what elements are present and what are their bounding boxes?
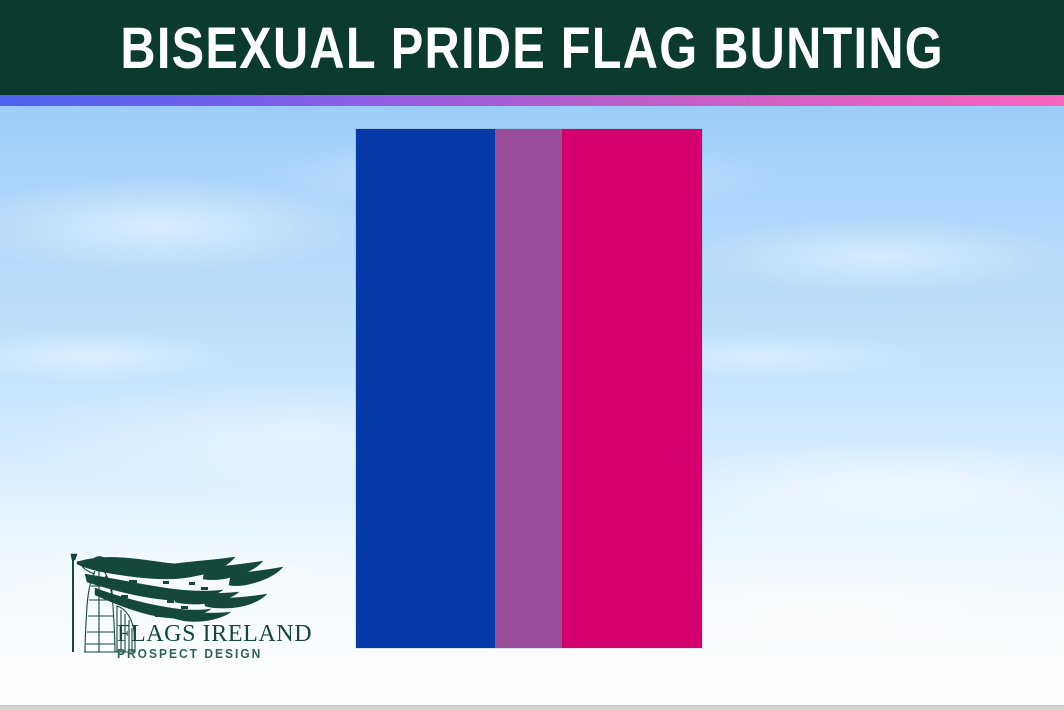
logo-primary-text: FLAGS IRELAND	[117, 622, 289, 646]
bisexual-pride-flag	[356, 129, 702, 648]
brand-logo: FLAGS IRELAND PROSPECT DESIGN	[55, 548, 290, 660]
logo-secondary-text: PROSPECT DESIGN	[117, 647, 275, 660]
product-image-canvas: BISEXUAL PRIDE FLAG BUNTING	[0, 0, 1064, 710]
flag-stripe-pink	[562, 129, 702, 648]
footer-edge-strip	[0, 705, 1064, 710]
flag-stripe-blue	[356, 129, 495, 648]
flag-stripe-purple	[495, 129, 562, 648]
logo-wordmark: FLAGS IRELAND PROSPECT DESIGN	[117, 622, 289, 660]
header-bar: BISEXUAL PRIDE FLAG BUNTING	[0, 0, 1064, 95]
page-title: BISEXUAL PRIDE FLAG BUNTING	[120, 20, 944, 78]
accent-gradient-bar	[0, 95, 1064, 106]
